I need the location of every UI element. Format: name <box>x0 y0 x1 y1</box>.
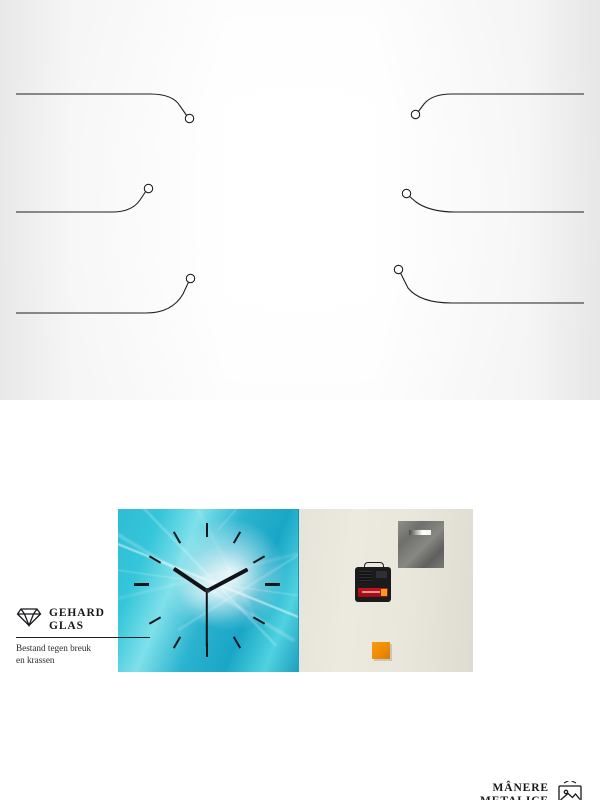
clock-tick <box>265 583 280 586</box>
mechanism-loop <box>364 562 384 569</box>
mechanism-block <box>376 571 387 578</box>
feature-description: Bestand tegen breuk en krassen <box>16 643 186 666</box>
clock-mechanism <box>355 567 391 602</box>
feature-title: GEHARD GLAS <box>49 607 105 633</box>
wall-mount-picture-icon <box>556 781 584 800</box>
second-hand <box>206 591 208 647</box>
infographic-canvas: GEHARD GLAS Bestand tegen breuk en krass… <box>0 0 600 400</box>
feature-gehard-glas[interactable]: GEHARD GLAS Bestand tegen breuk en krass… <box>16 606 186 666</box>
feature-header: GEHARD GLAS <box>16 606 186 633</box>
feature-manere-metalice[interactable]: MÂNERE METALICE Eenvoudige installatie v… <box>404 781 584 800</box>
callout-connectors <box>0 0 600 400</box>
clock-tick <box>206 523 208 537</box>
clock-tick <box>134 583 149 586</box>
feature-divider <box>16 637 150 638</box>
diamond-icon <box>16 606 42 633</box>
clock-hub <box>205 588 210 593</box>
metal-hanger <box>398 521 444 568</box>
hanger-slot <box>409 530 431 535</box>
feature-header: MÂNERE METALICE <box>404 781 584 800</box>
battery-terminal <box>381 589 387 596</box>
mechanism-grill <box>359 571 372 582</box>
foam-spacer <box>372 642 390 659</box>
feature-title: MÂNERE METALICE <box>480 782 549 800</box>
clock-back-panel <box>298 509 473 672</box>
battery <box>358 588 388 597</box>
battery-label <box>362 591 380 593</box>
